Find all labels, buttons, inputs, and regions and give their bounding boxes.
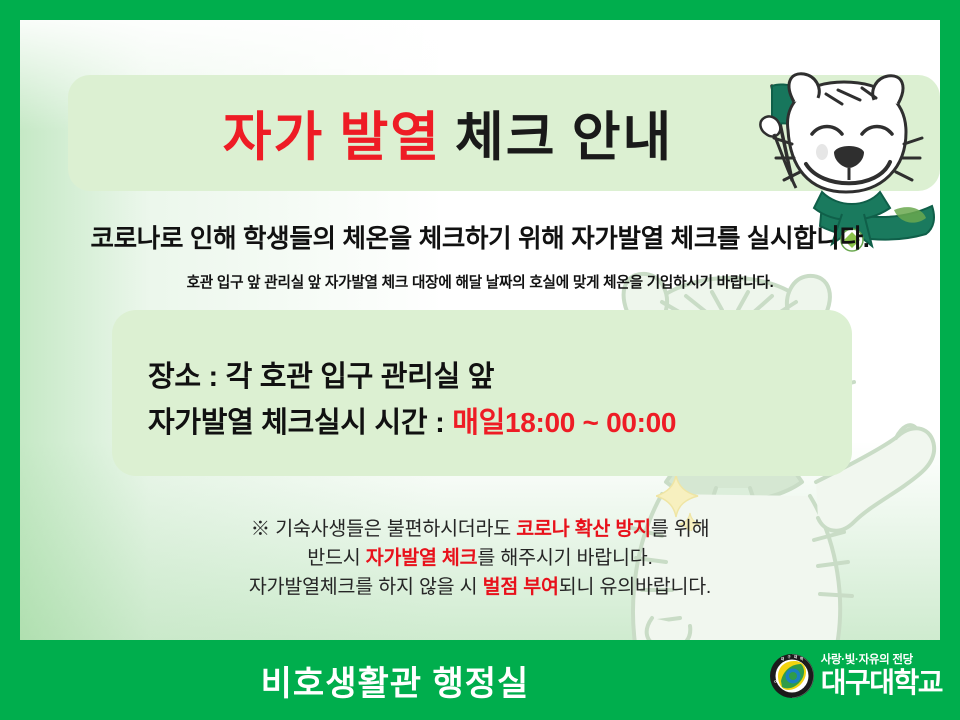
info-time-label: 자가발열 체크실시 시간 : [148,407,452,439]
notice-1-pre: ※ 기숙사생들은 불편하시더라도 [251,518,517,540]
notice-line-3: 자가발열체크를 하지 않을 시 벌점 부여되니 유의바랍니다. [20,573,940,602]
poster-root: 자가 발열 체크 안내 [0,0,960,720]
university-logo-text: 사랑·빛·자유의 전당 대구대학교 [821,655,942,697]
notice-2-pre: 반드시 [307,547,365,569]
notice-1-post: 를 위해 [651,518,709,540]
info-time-value: 18:00 ~ 00:00 [505,407,676,438]
notice-2-post: 를 해주시기 바랍니다. [477,547,652,569]
info-place-text: 장소 : 각 호관 입구 관리실 앞 [148,361,494,393]
university-emblem-icon: 대구대학 D [769,653,815,699]
info-time-prefix: 매일 [452,407,505,439]
notice-3-pre: 자가발열체크를 하지 않을 시 [249,576,483,598]
info-panel: 장소 : 각 호관 입구 관리실 앞 자가발열 체크실시 시간 : 매일18:0… [112,310,852,476]
headline-text: 코로나로 인해 학생들의 체온을 체크하기 위해 자가발열 체크를 실시합니다. [20,218,940,255]
notice-1-highlight: 코로나 확산 방지 [516,518,651,540]
title-rest: 체크 안내 [455,95,673,171]
title-banner: 자가 발열 체크 안내 [68,75,940,191]
subheadline-text: 호관 입구 앞 관리실 앞 자가발열 체크 대장에 해달 날짜의 호실에 맞게 … [20,271,940,292]
info-place-line: 장소 : 각 호관 입구 관리실 앞 [148,353,494,395]
notice-2-highlight: 자가발열 체크 [366,547,478,569]
notice-3-post: 되니 유의바랍니다. [559,576,711,598]
notice-line-2: 반드시 자가발열 체크를 해주시기 바랍니다. [20,544,940,573]
notice-line-1: ※ 기숙사생들은 불편하시더라도 코로나 확산 방지를 위해 [20,515,940,544]
svg-text:대: 대 [781,656,784,661]
notice-3-highlight: 벌점 부여 [483,576,559,598]
university-name: 대구대학교 [821,669,942,697]
university-logo: 대구대학 D 사랑·빛·자유의 전당 대구대학교 [769,653,942,699]
university-tagline: 사랑·빛·자유의 전당 [821,655,942,667]
page-title: 자가 발열 체크 안내 [68,75,828,191]
notice-list: ※ 기숙사생들은 불편하시더라도 코로나 확산 방지를 위해 반드시 자가발열 … [20,515,940,602]
poster-canvas: 자가 발열 체크 안내 [20,20,940,640]
info-time-line: 자가발열 체크실시 시간 : 매일18:00 ~ 00:00 [148,399,676,441]
title-highlight: 자가 발열 [223,95,441,171]
svg-text:구: 구 [787,654,790,659]
